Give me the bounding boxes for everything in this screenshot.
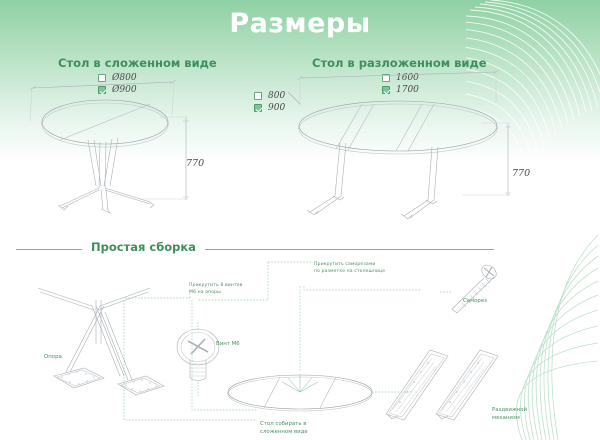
checkbox-checked-icon[interactable] xyxy=(98,86,106,94)
part-label-bolt: Винт М6 xyxy=(216,341,240,349)
page-root: Размеры Стол в сложенном виде Стол в раз… xyxy=(0,0,600,440)
unfolded-section-title: Стол в разложенном виде xyxy=(312,56,487,70)
option-unfolded-length-1700[interactable]: 1700 xyxy=(382,85,419,95)
option-label: Ø800 xyxy=(112,73,137,83)
option-folded-diameter-800[interactable]: Ø800 xyxy=(98,73,137,83)
checkbox-checked-icon[interactable] xyxy=(254,104,262,112)
folded-height-dimension: 770 xyxy=(186,158,204,169)
option-unfolded-width-800[interactable]: 800 xyxy=(254,91,285,101)
page-title: Размеры xyxy=(0,8,600,39)
option-unfolded-length-1600[interactable]: 1600 xyxy=(382,73,419,83)
option-label: Ø900 xyxy=(112,85,137,95)
option-folded-diameter-900[interactable]: Ø900 xyxy=(98,85,137,95)
part-label-support: Опора xyxy=(44,354,62,362)
folded-section-title: Стол в сложенном виде xyxy=(58,56,217,70)
part-label-slide-mechanism: Раздвижной механизм xyxy=(492,407,527,423)
part-label-fold-note: Стол собирать в сложенном виде xyxy=(260,421,308,437)
checkbox-unchecked-icon[interactable] xyxy=(382,74,390,82)
option-label: 800 xyxy=(268,91,285,101)
part-label-self-tapping-screw: Саморез xyxy=(463,298,487,306)
annotation-screws: Прикрутить 8 винтов М6 на опоры xyxy=(189,283,242,296)
unfolded-height-dimension: 770 xyxy=(512,168,530,179)
option-unfolded-width-900[interactable]: 900 xyxy=(254,103,285,113)
assembly-section-title: Простая сборка xyxy=(82,240,205,254)
option-label: 1700 xyxy=(396,85,419,95)
option-label: 900 xyxy=(268,103,285,113)
checkbox-checked-icon[interactable] xyxy=(382,86,390,94)
checkbox-unchecked-icon[interactable] xyxy=(254,92,262,100)
annotation-self-tapping: Прикрутить саморезами по разметке на сто… xyxy=(314,262,385,275)
option-label: 1600 xyxy=(396,73,419,83)
checkbox-unchecked-icon[interactable] xyxy=(98,74,106,82)
